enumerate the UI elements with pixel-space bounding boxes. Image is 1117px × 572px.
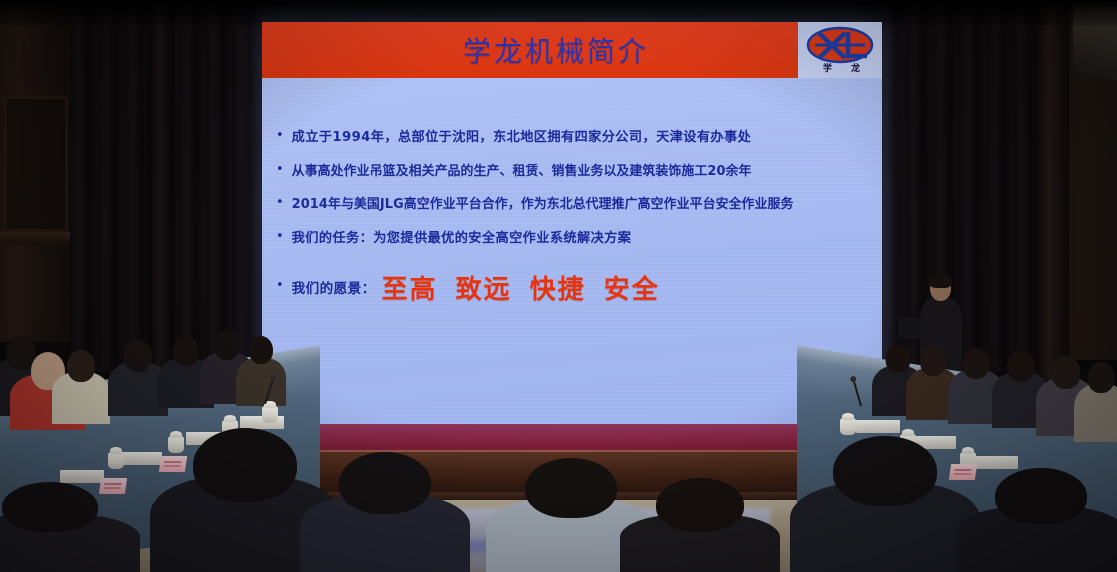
attendee-body — [1074, 384, 1117, 442]
vision-statement: • 我们的愿景： 至高致远快捷安全 — [276, 269, 864, 306]
conference-hall-photo: 学龙机械简介 学 龙 • 成立于1994年，总部位于沈阳，东北地区拥有四家分公司… — [0, 0, 1117, 572]
vision-word: 至高 — [382, 275, 438, 305]
seated-attendee — [1074, 362, 1117, 442]
attendee-head — [833, 436, 937, 506]
attendee-head — [173, 336, 199, 366]
attendee-head — [124, 340, 152, 372]
vision-word: 安全 — [604, 275, 660, 305]
seated-attendee — [52, 350, 110, 424]
company-logo: 学 龙 — [798, 22, 882, 78]
slide-title: 学龙机械简介 — [463, 30, 649, 70]
attendee-head — [656, 478, 744, 532]
bullet-marker: • — [276, 196, 284, 209]
teacup — [262, 406, 278, 423]
wall-frame-decoration — [4, 96, 68, 232]
attendee-head — [193, 428, 297, 502]
bullet-text: 从事高处作业吊篮及相关产品的生产、租赁、销售业务以及建筑装饰施工20余年 — [292, 164, 752, 179]
logo-xl-icon: 学 龙 — [803, 25, 877, 75]
vision-word: 快捷 — [530, 275, 586, 305]
list-item: • 2014年与美国JLG高空作业平台合作，作为东北总代理推广高空作业平台安全作… — [276, 197, 864, 212]
foreground-attendee — [620, 478, 780, 572]
attendee-head — [963, 348, 990, 379]
foreground-attendee — [956, 468, 1117, 572]
bullet-text: 我们的任务：为您提供最优的安全高空作业系统解决方案 — [292, 231, 632, 247]
bullet-marker: • — [276, 163, 284, 176]
foreground-attendee — [790, 436, 980, 572]
foreground-attendee — [300, 452, 470, 572]
list-item: • 成立于1994年，总部位于沈阳，东北地区拥有四家分公司，天津设有办事处 — [276, 130, 864, 146]
vision-label: 我们的愿景： — [292, 277, 376, 297]
attendee-head — [525, 458, 617, 518]
attendee-head — [2, 482, 98, 532]
attendee-head — [1007, 350, 1035, 382]
hall-pillar-right — [1035, 0, 1069, 380]
bullet-marker: • — [276, 230, 284, 243]
svg-text:龙: 龙 — [850, 62, 860, 74]
list-item: • 我们的任务：为您提供最优的安全高空作业系统解决方案 — [276, 231, 864, 247]
bullet-text: 成立于1994年，总部位于沈阳，东北地区拥有四家分公司，天津设有办事处 — [292, 130, 752, 146]
attendee-head — [920, 346, 946, 376]
bullet-marker: • — [276, 129, 284, 142]
document-stack — [856, 420, 900, 433]
svg-text:学: 学 — [823, 62, 832, 74]
slide-bullet-list: • 成立于1994年，总部位于沈阳，东北地区拥有四家分公司，天津设有办事处 • … — [262, 78, 882, 324]
slide-title-bar: 学龙机械简介 — [262, 22, 882, 78]
attendee-head — [249, 336, 273, 364]
hall-pillar-left — [148, 0, 174, 380]
video-camera — [898, 318, 924, 338]
bullet-marker: • — [276, 279, 284, 292]
vision-keywords: 至高致远快捷安全 — [382, 269, 678, 306]
bullet-text: 2014年与美国JLG高空作业平台合作，作为东北总代理推广高空作业平台安全作业服… — [292, 197, 794, 212]
vision-word: 致远 — [456, 275, 512, 305]
attendee-head — [995, 468, 1087, 524]
presenter-hair — [929, 274, 952, 288]
list-item: • 从事高处作业吊篮及相关产品的生产、租赁、销售业务以及建筑装饰施工20余年 — [276, 164, 864, 179]
attendee-head — [339, 452, 431, 514]
presentation-slide: 学龙机械简介 学 龙 • 成立于1994年，总部位于沈阳，东北地区拥有四家分公司… — [262, 22, 882, 424]
foreground-attendee — [0, 482, 140, 572]
seated-attendee — [236, 336, 286, 406]
attendee-body — [236, 358, 286, 406]
attendee-head — [1088, 362, 1115, 393]
teacup — [840, 418, 856, 435]
teacup — [108, 452, 124, 469]
projection-screen: 学龙机械简介 学 龙 • 成立于1994年，总部位于沈阳，东北地区拥有四家分公司… — [262, 22, 882, 424]
attendee-head — [67, 350, 95, 382]
